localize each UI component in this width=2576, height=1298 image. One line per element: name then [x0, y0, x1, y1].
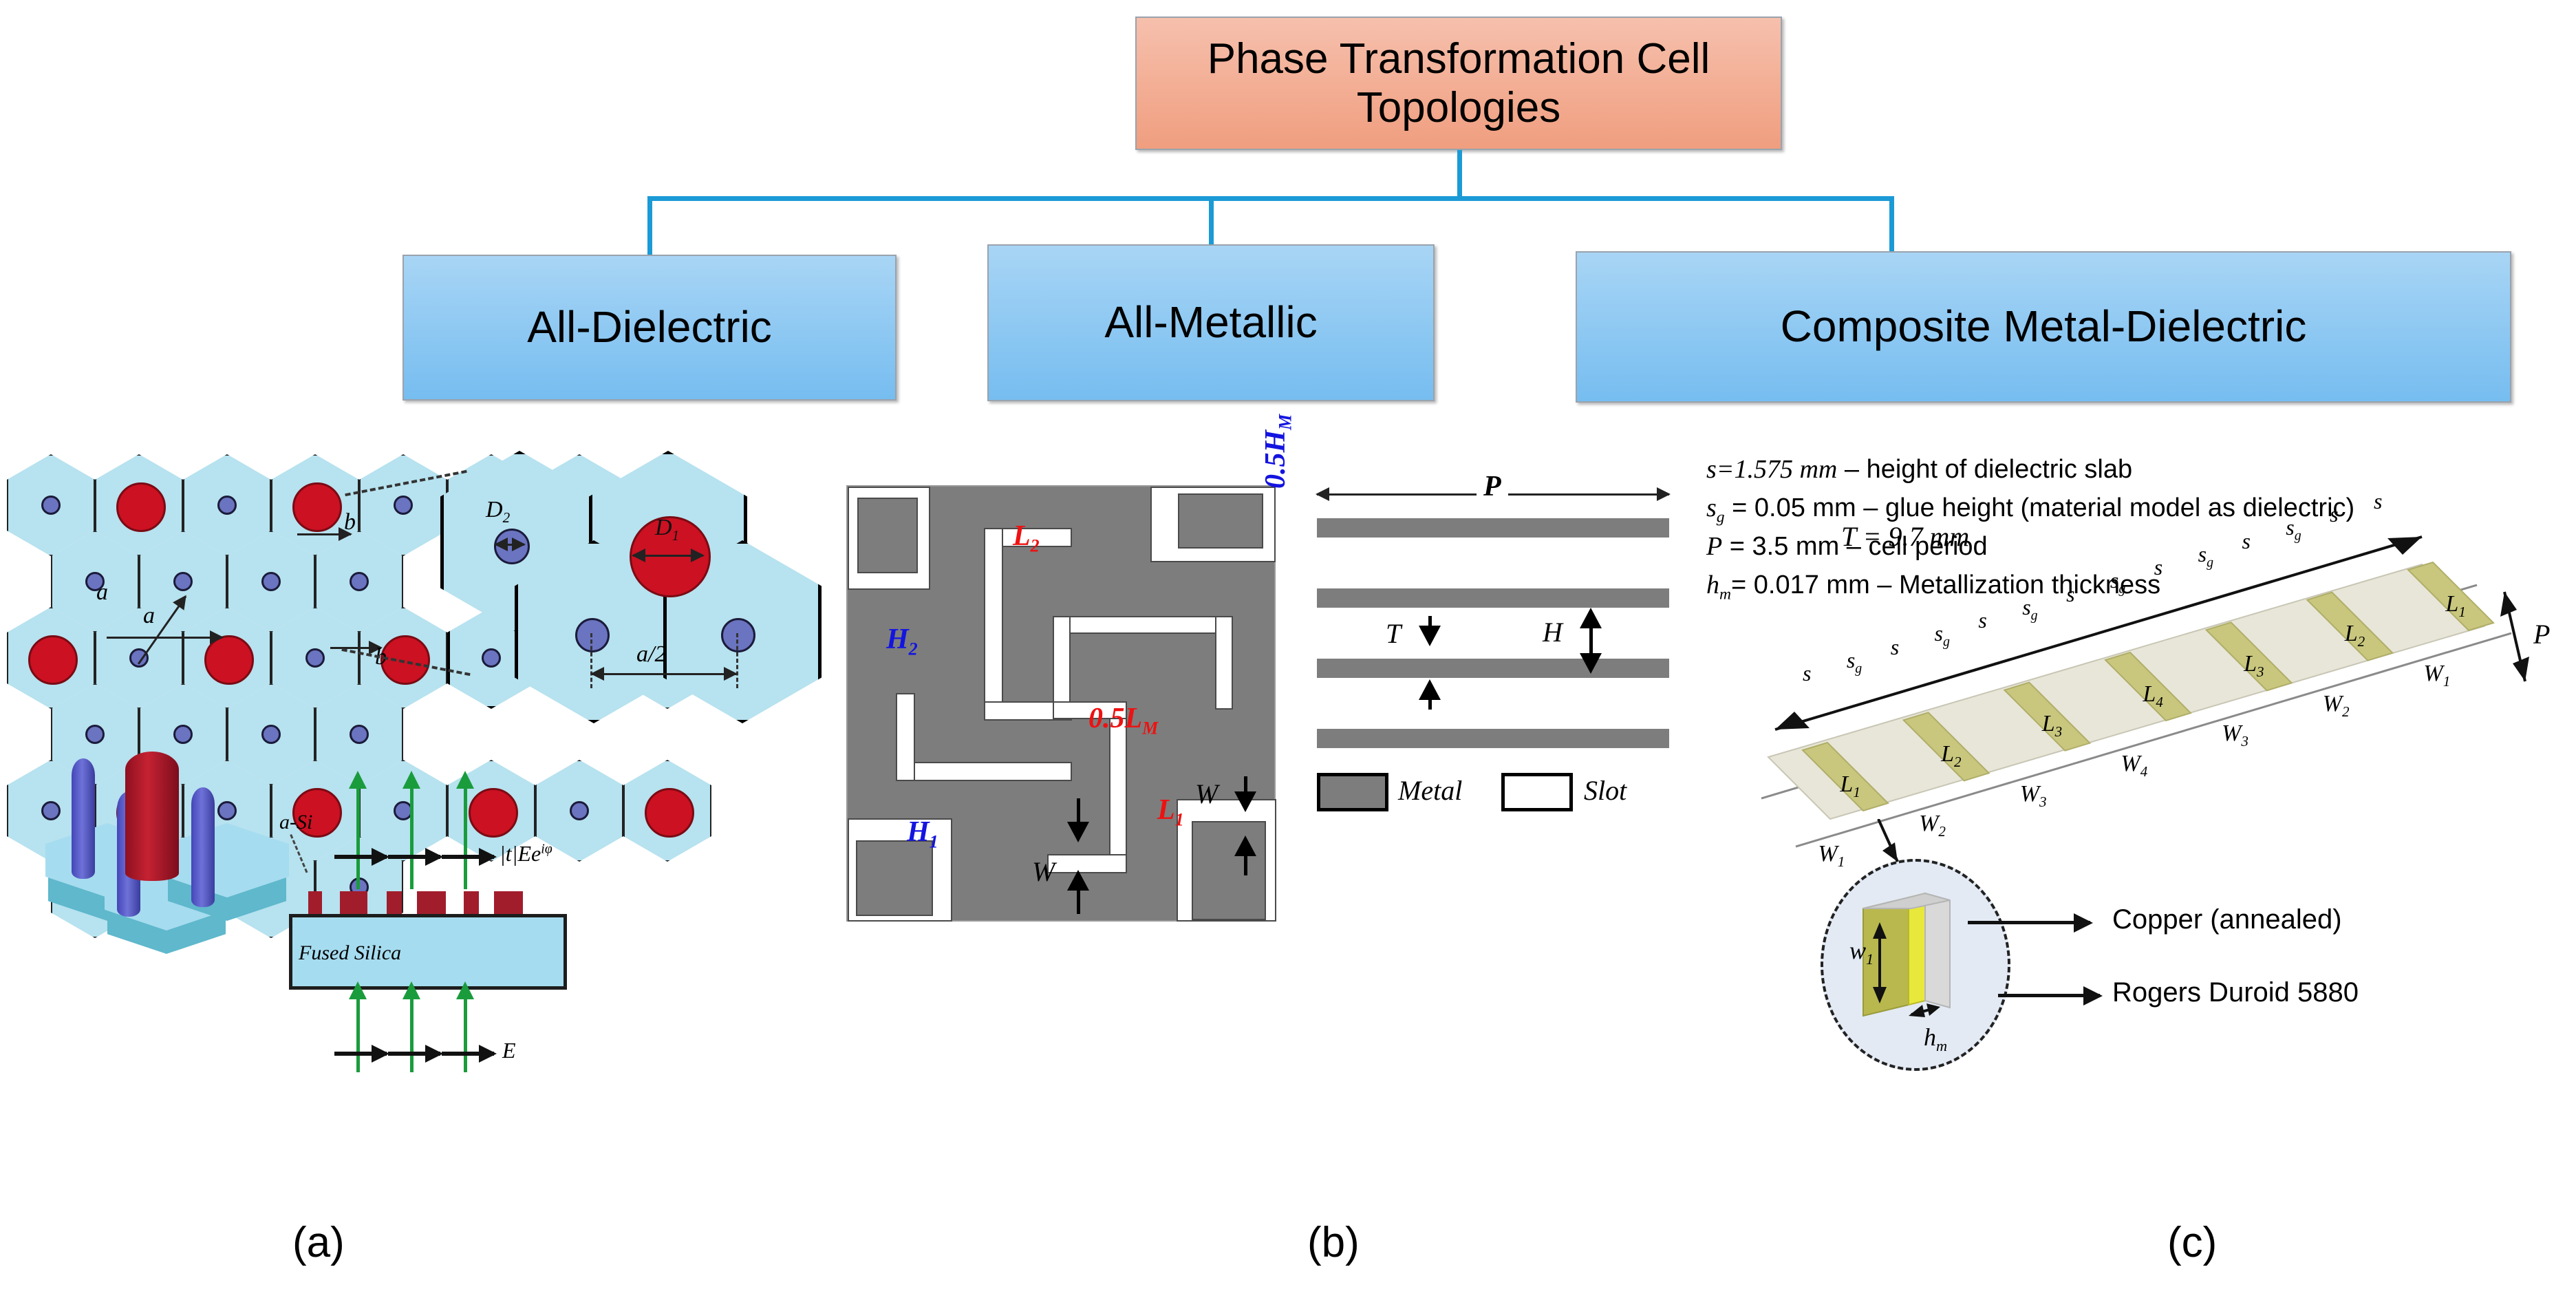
spacing-tick-label: s — [1978, 608, 1986, 633]
post-small — [350, 572, 369, 591]
inset-label-a-half: a/2 — [636, 641, 666, 668]
pedestal-3d-view — [41, 778, 289, 970]
root-node-phase-transformation-cell-topologies: Phase Transformation Cell Topologies — [1135, 17, 1782, 150]
si-pillar-4 — [417, 891, 446, 915]
post-large-1 — [125, 752, 179, 881]
spacing-tick-label: sg — [1847, 648, 1862, 677]
slot-arm-lm-top — [1053, 616, 1233, 634]
strip-width-label: W3 — [2222, 721, 2248, 750]
metal-slot-stack: P T H Metal Slot — [1314, 485, 1672, 809]
spacing-tick-label: sg — [2286, 515, 2301, 544]
post-small — [350, 725, 369, 744]
dim-arrow-W-right-down — [1244, 776, 1247, 808]
field-arrow-in-3 — [464, 997, 467, 1072]
post-small — [217, 496, 237, 515]
dim-arrow-T-down — [1428, 616, 1432, 642]
si-pillar-6 — [494, 891, 523, 915]
post-small — [173, 572, 193, 591]
strip-length-label: L3 — [2042, 711, 2062, 741]
spacing-tick-label: s — [2374, 489, 2382, 514]
inset-small-post-right-bottom — [721, 618, 755, 652]
post-small — [85, 725, 105, 744]
strip-width-label: W4 — [2121, 751, 2147, 780]
label-output-field: |t|Eeiφ — [500, 841, 552, 866]
strip-width-label: W3 — [2020, 781, 2047, 811]
si-pillar-3 — [387, 891, 402, 915]
field-arrow-out-2 — [410, 786, 414, 889]
cross-section-view: a-Si |t|Eeiφ Fused Silica E — [275, 778, 592, 1067]
label-half-HM: 0.5HM — [1259, 414, 1296, 489]
metallic-unit-cell — [846, 485, 1276, 922]
panel-c-composite-metal-dielectric: s=1.575 mm – height of dielectric slab s… — [1693, 454, 2576, 1184]
post-large — [645, 788, 694, 838]
metal-island-top-right — [1178, 493, 1263, 549]
spacing-tick-label: s — [1891, 635, 1899, 660]
post-small-1 — [72, 758, 95, 879]
strip-length-label: L1 — [1840, 772, 1860, 801]
post-large — [292, 482, 342, 532]
connector-stem-dielectric — [647, 196, 652, 257]
label-H: H — [1543, 616, 1563, 648]
spacing-tick-label: s — [2242, 529, 2250, 554]
strip-length-label: L3 — [2244, 651, 2264, 681]
connector-horizontal-bus — [647, 196, 1894, 201]
slot-arm-l2-vertical — [984, 528, 1003, 721]
node-composite-label: Composite Metal-Dielectric — [1781, 301, 2307, 352]
post-large — [116, 482, 166, 532]
slot-arm-left-vertical — [896, 693, 915, 781]
field-arrow-in-h1 — [334, 1052, 387, 1056]
strip-length-label: L2 — [2345, 621, 2365, 650]
spacing-tick-label: s — [2154, 555, 2162, 580]
slot-arm-lm-right — [1215, 616, 1233, 710]
post-small — [261, 725, 281, 744]
node-all-dielectric[interactable]: All-Dielectric — [402, 255, 897, 401]
legend-label-metal: Metal — [1398, 774, 1462, 807]
label-L2: L2 — [1013, 520, 1040, 556]
callout-label-copper: Copper (annealed) — [2112, 904, 2342, 935]
caption-c: (c) — [2167, 1218, 2217, 1267]
root-node-label: Phase Transformation Cell Topologies — [1137, 34, 1781, 133]
dim-arrow-W-center-down — [1077, 798, 1080, 838]
label-T: T — [1386, 617, 1401, 650]
spacing-tick-label: s — [2066, 582, 2074, 607]
inset-small-post-left-bottom — [575, 618, 610, 652]
callout-arrow-copper — [1968, 921, 2090, 924]
inset-spacing-arrow-a-half — [592, 673, 736, 675]
strip-length-label: L4 — [2143, 681, 2162, 711]
strip-length-label: L2 — [1941, 741, 1961, 771]
caption-b: (b) — [1307, 1218, 1360, 1267]
callout-label-w1: w1 — [1849, 936, 1874, 968]
lattice-arrow-b-upper — [297, 533, 351, 535]
si-pillar-2 — [340, 891, 367, 915]
metal-bar-3 — [1317, 659, 1669, 678]
node-all-dielectric-label: All-Dielectric — [527, 302, 772, 353]
field-arrow-out-h3 — [442, 855, 494, 859]
dim-arrow-W-right-up — [1244, 840, 1247, 875]
dim-arrow-W-center-up — [1077, 874, 1080, 914]
label-H2: H2 — [886, 623, 918, 659]
field-arrow-out-3 — [464, 786, 467, 889]
inset-diameter-arrow-D1 — [633, 555, 703, 557]
panel-b-all-metallic: L2 H2 0.5LM L1 H1 W W 0.5HM P T H Metal … — [833, 454, 1713, 1184]
inset-diameter-arrow-D2 — [495, 544, 524, 546]
caption-a: (a) — [292, 1218, 345, 1267]
dim-arrow-T-up — [1428, 683, 1432, 710]
metal-bar-2 — [1317, 588, 1669, 608]
lattice-label-a-diagonal: a — [96, 579, 108, 606]
label-W-center: W — [1032, 855, 1055, 888]
label-fused-silica: Fused Silica — [299, 941, 401, 965]
spacing-tick-label: s — [2330, 502, 2338, 527]
label-input-field: E — [502, 1038, 516, 1063]
label-L1: L1 — [1157, 794, 1184, 830]
strip-length-label: L1 — [2445, 591, 2465, 621]
strip-array-3d: T = 9.7 mm P ssgssgssgssgssgssgss L1L2L3… — [1693, 454, 2576, 881]
field-arrow-out-h1 — [334, 855, 387, 859]
post-small — [173, 725, 193, 744]
a-si-leader — [290, 834, 308, 873]
lattice-arrow-a-horizontal — [107, 637, 222, 639]
label-T-period: T = 9.7 mm — [1841, 520, 1969, 553]
si-pillar-5 — [464, 891, 479, 915]
post-small — [41, 496, 61, 515]
post-small — [261, 572, 281, 591]
spacing-tick-label: sg — [2110, 568, 2125, 597]
panel-a-all-dielectric: a a b b D2 D1 a/2 a-Si — [0, 454, 791, 1177]
metal-island-top-left — [857, 498, 918, 573]
post-large — [28, 635, 78, 685]
label-half-LM: 0.5LM — [1088, 702, 1158, 738]
callout-label-dielectric: Rogers Duroid 5880 — [2112, 977, 2359, 1008]
spacing-tick-label: sg — [1935, 621, 1950, 650]
metal-bar-4 — [1317, 729, 1669, 748]
node-all-metallic[interactable]: All-Metallic — [987, 244, 1435, 401]
connector-stem-composite — [1889, 196, 1894, 253]
strip-width-label: W1 — [2423, 661, 2450, 690]
lattice-arrow-b-lower — [330, 647, 381, 649]
node-all-metallic-label: All-Metallic — [1104, 297, 1317, 348]
label-W-right: W — [1195, 778, 1218, 810]
lattice-label-a-horizontal: a — [143, 603, 155, 629]
spacing-tick-label: s — [1803, 661, 1811, 686]
inset-label-D2: D2 — [486, 497, 510, 526]
callout-label-hm: hm — [1924, 1023, 1947, 1055]
spacing-tick-label: sg — [2022, 595, 2037, 624]
field-arrow-in-h2 — [388, 1052, 440, 1056]
lattice-label-b-upper: b — [344, 509, 356, 535]
label-H1: H1 — [907, 816, 938, 852]
label-a-si: a-Si — [279, 811, 312, 834]
callout-arrow-dielectric — [1998, 994, 2100, 997]
spacing-tick-label: sg — [2198, 542, 2213, 571]
connector-root-stem — [1457, 150, 1462, 198]
field-arrow-in-1 — [356, 997, 360, 1072]
post-small-3 — [191, 787, 215, 907]
metal-bar-1 — [1317, 518, 1669, 538]
connector-stem-metallic — [1209, 196, 1214, 246]
legend-swatch-slot — [1501, 773, 1573, 811]
node-composite-metal-dielectric[interactable]: Composite Metal-Dielectric — [1576, 251, 2511, 403]
field-arrow-out-1 — [356, 786, 360, 889]
post-small — [482, 648, 501, 668]
strip-width-label: W2 — [2323, 691, 2350, 721]
legend-label-slot: Slot — [1584, 774, 1627, 807]
post-small — [394, 496, 413, 515]
slot-arm-left-horizontal — [896, 762, 1072, 781]
legend-swatch-metal — [1317, 773, 1388, 811]
dim-arrow-H — [1589, 612, 1593, 670]
inset-label-D1: D1 — [655, 515, 679, 544]
label-P-strip: P — [2533, 618, 2550, 650]
field-arrow-in-h3 — [442, 1052, 494, 1056]
field-arrow-in-2 — [410, 997, 414, 1072]
si-pillar-1 — [308, 891, 322, 915]
label-P: P — [1477, 470, 1508, 503]
field-arrow-out-h2 — [388, 855, 440, 859]
post-small — [305, 648, 325, 668]
